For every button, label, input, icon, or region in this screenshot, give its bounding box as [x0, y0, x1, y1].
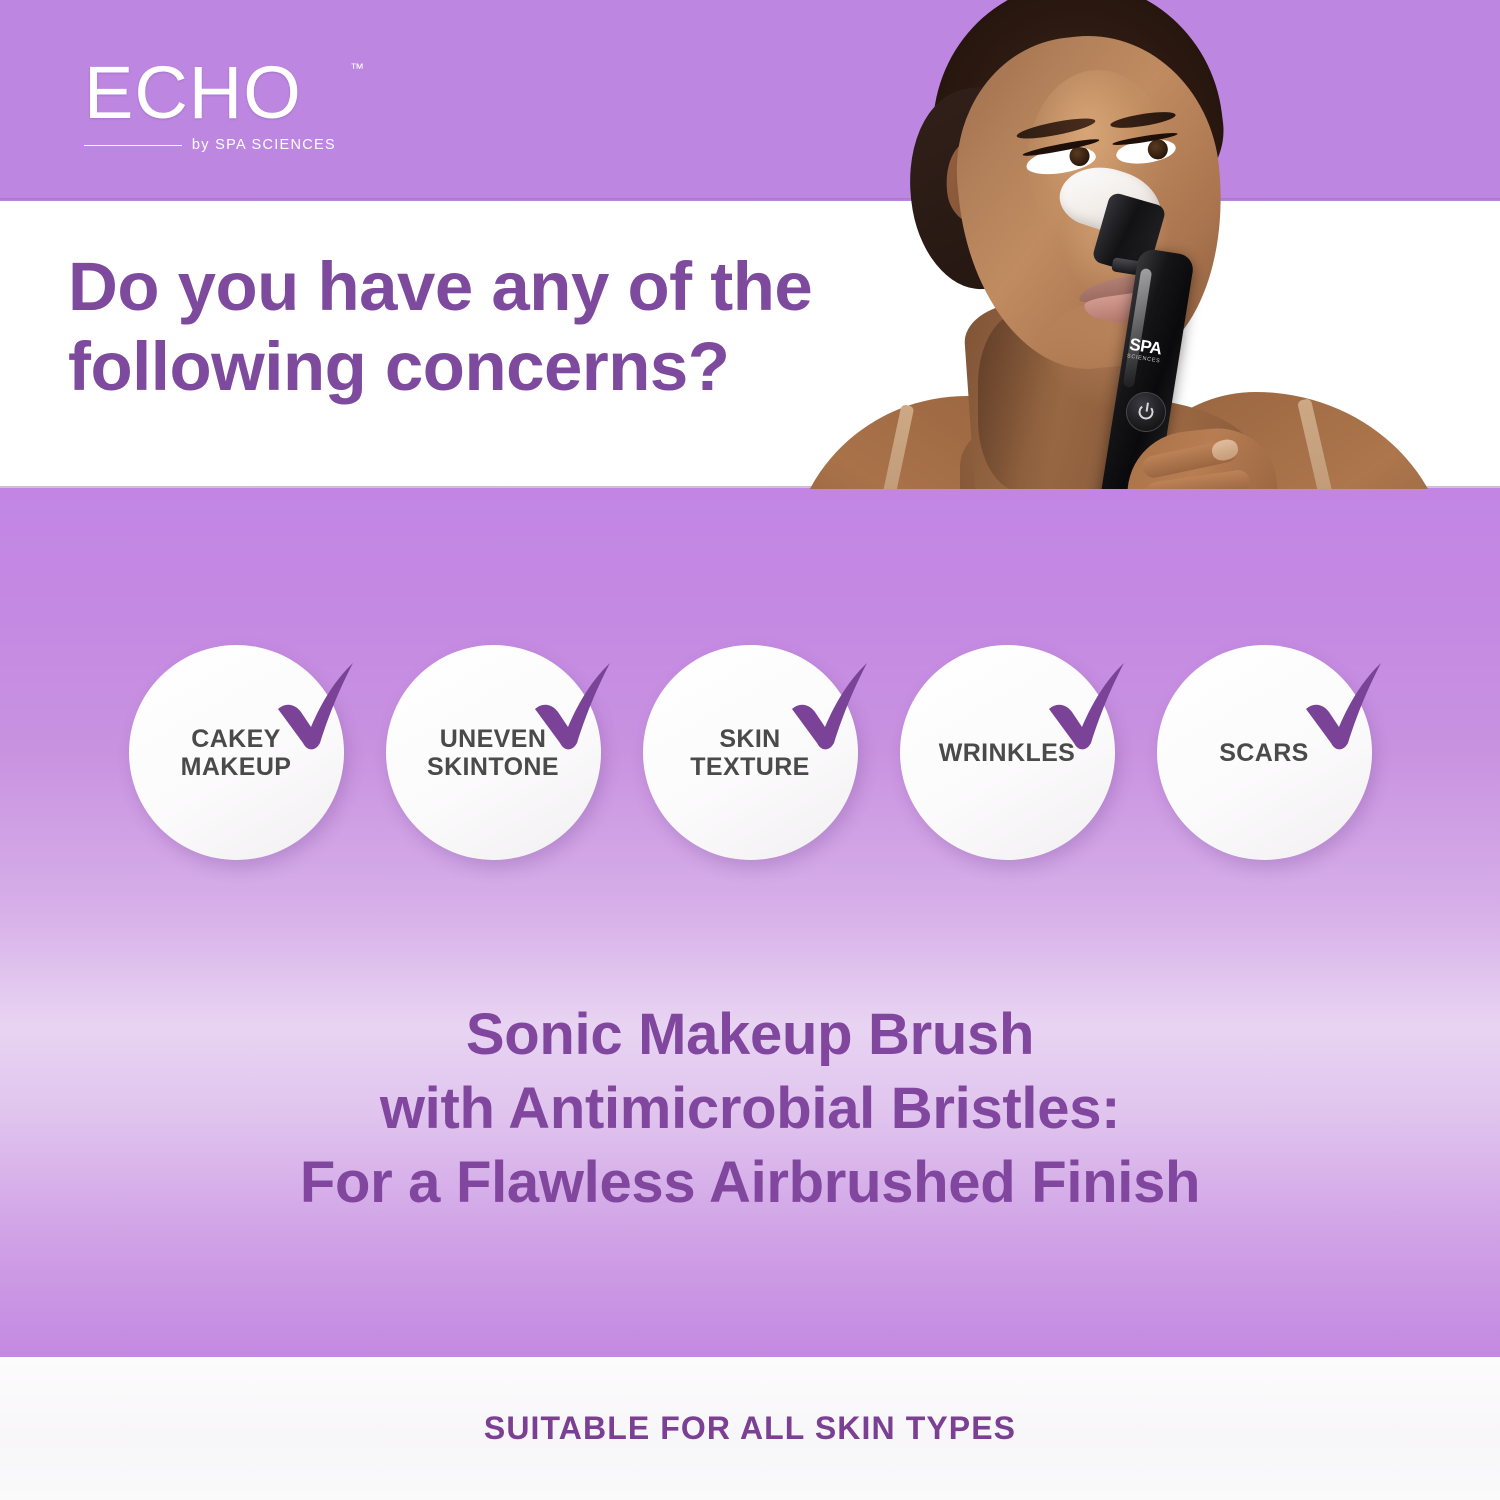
- concern-item-skin-texture[interactable]: SKIN TEXTURE: [643, 645, 858, 860]
- concern-circle: WRINKLES: [900, 645, 1115, 860]
- concern-circle: SCARS: [1157, 645, 1372, 860]
- power-symbol-icon: [1137, 403, 1154, 420]
- brand-tagline: by SPA SCIENCES: [192, 137, 336, 153]
- concern-label: WRINKLES: [925, 739, 1090, 767]
- brand-logo-wordmark: ECHO: [84, 58, 302, 128]
- concern-label: CAKEY MAKEUP: [167, 725, 306, 781]
- concern-item-uneven-skintone[interactable]: UNEVEN SKINTONE: [386, 645, 601, 860]
- product-title: Sonic Makeup Brush with Antimicrobial Br…: [0, 998, 1500, 1221]
- concern-item-wrinkles[interactable]: WRINKLES: [900, 645, 1115, 860]
- concern-item-cakey-makeup[interactable]: CAKEY MAKEUP: [129, 645, 344, 860]
- brand-logo: ECHO™ by SPA SCIENCES: [84, 58, 344, 153]
- model-photo: SPA SCIENCES: [760, 0, 1500, 489]
- product-infographic: ECHO™ by SPA SCIENCES Do you have any of…: [0, 0, 1500, 1500]
- logo-divider-rule: [84, 145, 182, 147]
- concern-circle: SKIN TEXTURE: [643, 645, 858, 860]
- product-title-line-1: Sonic Makeup Brush: [0, 998, 1500, 1072]
- concern-circle: UNEVEN SKINTONE: [386, 645, 601, 860]
- footer-band: SUITABLE FOR ALL SKIN TYPES: [0, 1357, 1500, 1500]
- concern-label: SKIN TEXTURE: [676, 725, 823, 781]
- concern-circle: CAKEY MAKEUP: [129, 645, 344, 860]
- concerns-list: CAKEY MAKEUP UNEVEN SKINTONE SKIN TEXTUR…: [0, 645, 1500, 865]
- main-gradient-section: [0, 488, 1500, 1357]
- brand-tagline-row: by SPA SCIENCES: [84, 137, 336, 153]
- product-title-line-2: with Antimicrobial Bristles:: [0, 1072, 1500, 1146]
- footer-text: SUITABLE FOR ALL SKIN TYPES: [484, 1410, 1016, 1447]
- concern-item-scars[interactable]: SCARS: [1157, 645, 1372, 860]
- product-title-line-3: For a Flawless Airbrushed Finish: [0, 1146, 1500, 1220]
- concern-label: SCARS: [1205, 739, 1323, 767]
- trademark-icon: ™: [350, 60, 364, 76]
- concern-label: UNEVEN SKINTONE: [413, 725, 573, 781]
